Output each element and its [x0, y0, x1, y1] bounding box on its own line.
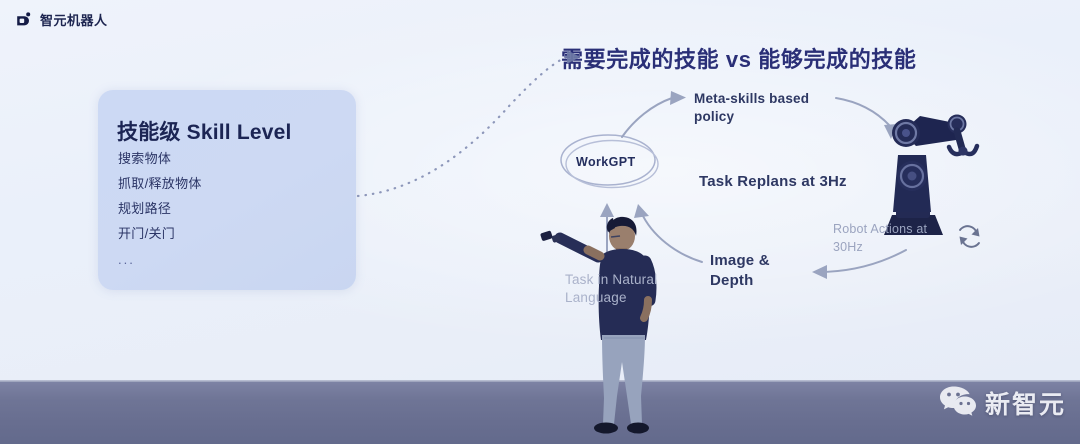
- skill-level-card: 技能级 Skill Level 搜索物体 抓取/释放物体 规划路径 开门/关门 …: [98, 90, 356, 290]
- meta-policy-label: Meta-skills based policy: [694, 90, 824, 126]
- watermark-text: 新智元: [985, 385, 1066, 421]
- brand-logo: 智元机器人: [14, 10, 108, 29]
- workgpt-node-label: WorkGPT: [576, 155, 636, 169]
- task-replans-label: Task Replans at 3Hz: [699, 172, 847, 192]
- stage-floor: [0, 382, 1080, 444]
- screenshot-stage: 智元机器人 技能级 Skill Level 搜索物体 抓取/释放物体 规划路径 …: [0, 0, 1080, 444]
- list-item: 抓取/释放物体: [118, 177, 202, 190]
- aixin-logo-icon: [14, 10, 33, 29]
- slide-headline: 需要完成的技能 vs 能够完成的技能: [561, 42, 917, 74]
- task-language-label: Task in Natural Language: [565, 271, 685, 307]
- image-depth-label: Image & Depth: [710, 251, 800, 292]
- skill-card-title: 技能级 Skill Level: [117, 116, 292, 146]
- robot-actions-label: Robot Actions at 30Hz: [833, 221, 953, 256]
- skill-card-list: 搜索物体 抓取/释放物体 规划路径 开门/关门 ...: [118, 152, 202, 267]
- wechat-icon: [938, 384, 978, 422]
- list-item: 搜索物体: [118, 152, 202, 165]
- list-item: 开门/关门: [118, 227, 202, 240]
- brand-name: 智元机器人: [40, 10, 108, 29]
- list-item: 规划路径: [118, 202, 202, 215]
- list-ellipsis: ...: [118, 252, 202, 267]
- watermark: 新智元: [938, 384, 1066, 422]
